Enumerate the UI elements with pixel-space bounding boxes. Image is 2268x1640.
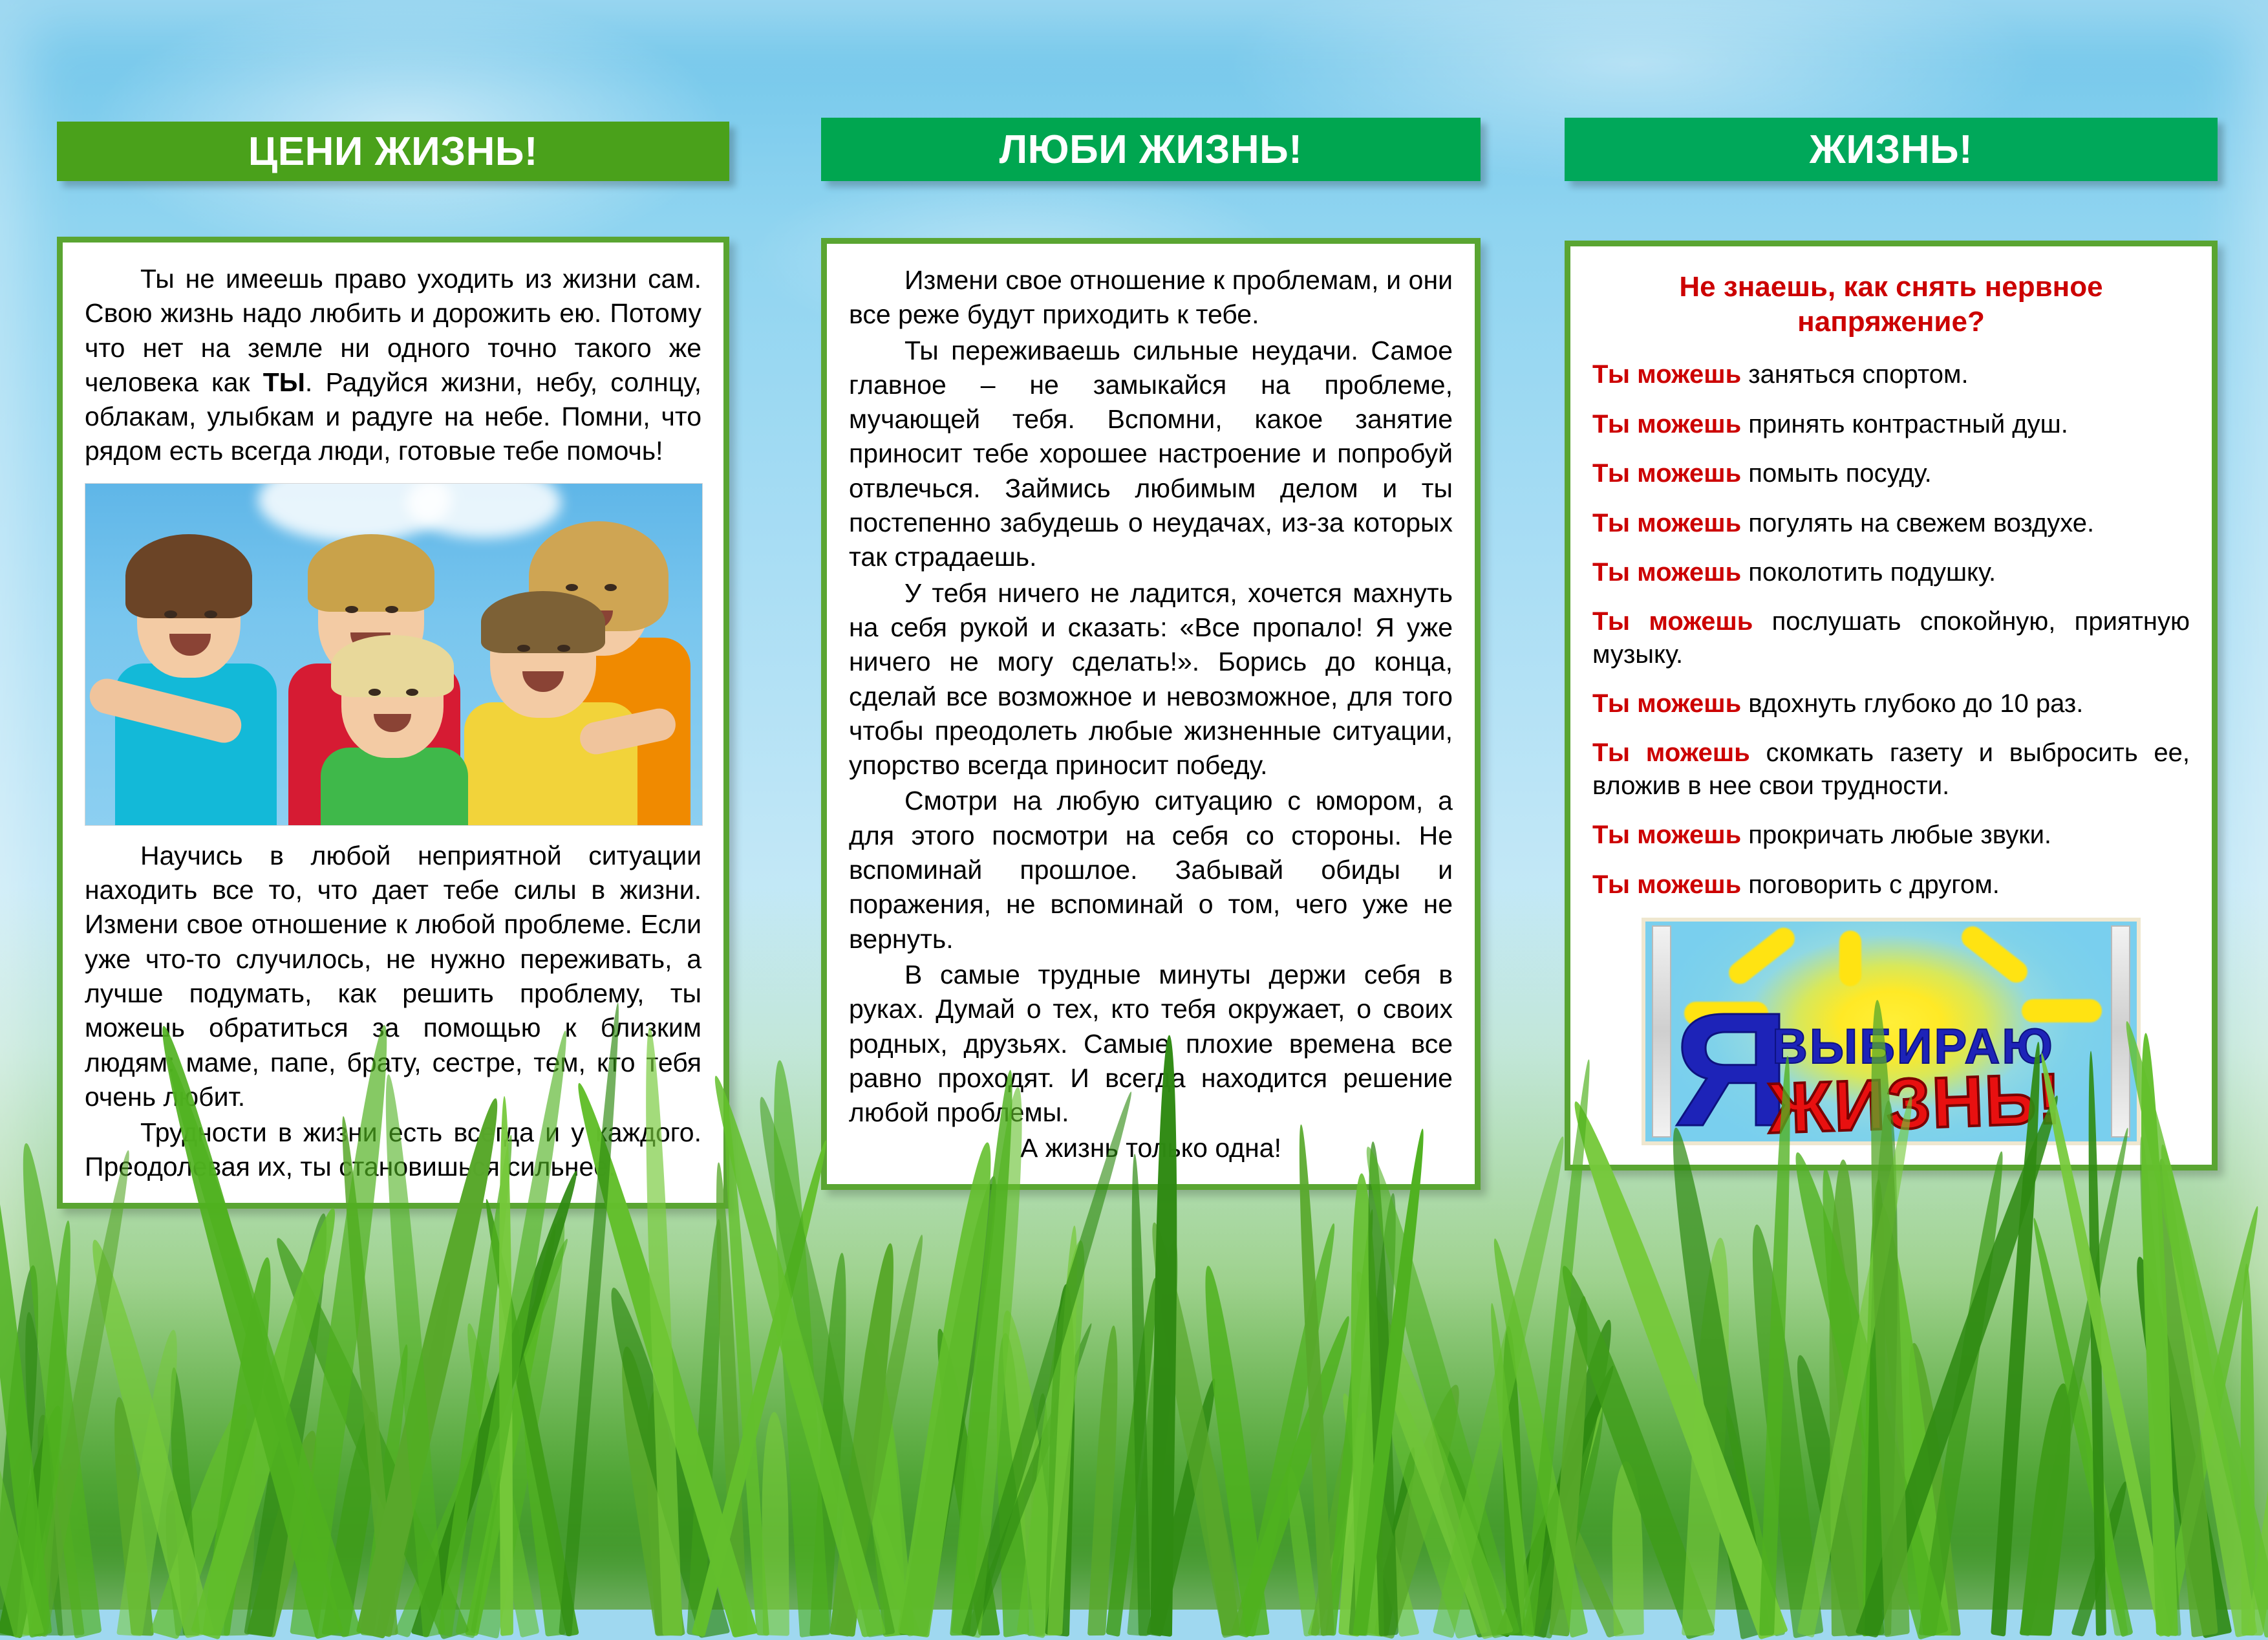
tip-text: помыть посуду. [1748,459,1931,488]
hair [308,534,434,612]
tip-text: принять контрастный душ. [1748,410,2068,438]
tip-text: поколотить подушку. [1748,558,1996,587]
tip-item: Ты можешь послушать спокойную, приятную … [1592,605,2190,671]
hair [481,591,605,653]
tip-item: Ты можешь погулять на свежем воздухе. [1592,507,2190,539]
banner-lyubi-zhizn: ЛЮБИ ЖИЗНЬ! [821,118,1481,181]
column-2: ЛЮБИ ЖИЗНЬ! Измени свое отношение к проб… [821,0,1481,1190]
eye [369,689,381,696]
tip-item: Ты можешь прокричать любые звуки. [1592,819,2190,851]
tip-lead: Ты можешь [1592,410,1748,438]
tip-text: прокричать любые звуки. [1748,821,2051,849]
paragraph-2: Ты переживаешь сильные неудачи. Самое гл… [849,334,1453,575]
sun-ray [1839,931,1861,986]
eye [345,606,358,613]
eye [385,606,398,613]
sun-ray [1957,922,2031,987]
child-green [299,631,486,825]
eye [604,584,617,591]
eye [406,689,418,696]
tip-item: Ты можешь принять контрастный душ. [1592,408,2190,440]
tip-item: Ты можешь помыть посуду. [1592,457,2190,490]
section-heading: Не знаешь, как снять нервное напряжение? [1592,270,2190,339]
banner-tseni-zhizn: ЦЕНИ ЖИЗНЬ! [57,122,729,181]
tip-item: Ты можешь поговорить с другом. [1592,869,2190,901]
eye [204,610,217,618]
column-1: ЦЕНИ ЖИЗНЬ! Ты не имеешь право уходить и… [57,0,729,1209]
tip-text: вдохнуть глубоко до 10 раз. [1748,689,2083,718]
tip-text: поговорить с другом. [1748,870,2000,899]
closing-line: А жизнь только одна! [849,1131,1453,1165]
shirt-green [321,748,468,825]
tip-item: Ты можешь скомкать газету и выбросить ее… [1592,737,2190,802]
paragraph-4: Смотри на любую ситуацию с юмором, а для… [849,784,1453,956]
tip-lead: Ты можешь [1592,870,1748,899]
paragraph-3: У тебя ничего не ладится, хочется махнут… [849,576,1453,783]
tip-lead: Ты можешь [1592,821,1748,849]
eye [517,645,530,652]
paragraph-intro-bold: ТЫ [263,367,305,397]
logo-word-zhizn: ЖИЗНЬ! [1767,1057,2064,1145]
tip-item: Ты можешь поколотить подушку. [1592,556,2190,588]
tip-lead: Ты можешь [1592,558,1748,587]
panel-column-3: Не знаешь, как снять нервное напряжение?… [1565,241,2218,1171]
hair [125,534,252,618]
tip-lead: Ты можешь [1592,607,1772,636]
tip-lead: Ты можешь [1592,360,1748,389]
tip-item: Ты можешь заняться спортом. [1592,358,2190,391]
panel-column-1: Ты не имеешь право уходить из жизни сам.… [57,237,729,1209]
banner-zhizn: ЖИЗНЬ! [1565,118,2218,181]
tip-lead: Ты можешь [1592,739,1766,767]
eye [557,645,570,652]
photo-of-smiling-children [85,483,703,826]
eye [566,584,578,591]
tip-text: погулять на свежем воздухе. [1748,509,2094,537]
tip-lead: Ты можешь [1592,509,1748,537]
paragraph-1: Измени свое отношение к проблемам, и они… [849,263,1453,332]
column-3: ЖИЗНЬ! Не знаешь, как снять нервное напр… [1565,0,2218,1171]
paragraph-intro: Ты не имеешь право уходить из жизни сам.… [85,262,701,469]
panel-column-2: Измени свое отношение к проблемам, и они… [821,238,1481,1190]
tip-lead: Ты можешь [1592,459,1748,488]
hair [331,635,454,697]
tip-text: заняться спортом. [1748,360,1968,389]
tip-lead: Ты можешь [1592,689,1748,718]
eye [164,610,177,618]
tips-list: Ты можешь заняться спортом.Ты можешь при… [1592,358,2190,901]
paragraph-5: В самые трудные минуты держи себя в рука… [849,958,1453,1130]
tip-item: Ты можешь вдохнуть глубоко до 10 раз. [1592,687,2190,720]
